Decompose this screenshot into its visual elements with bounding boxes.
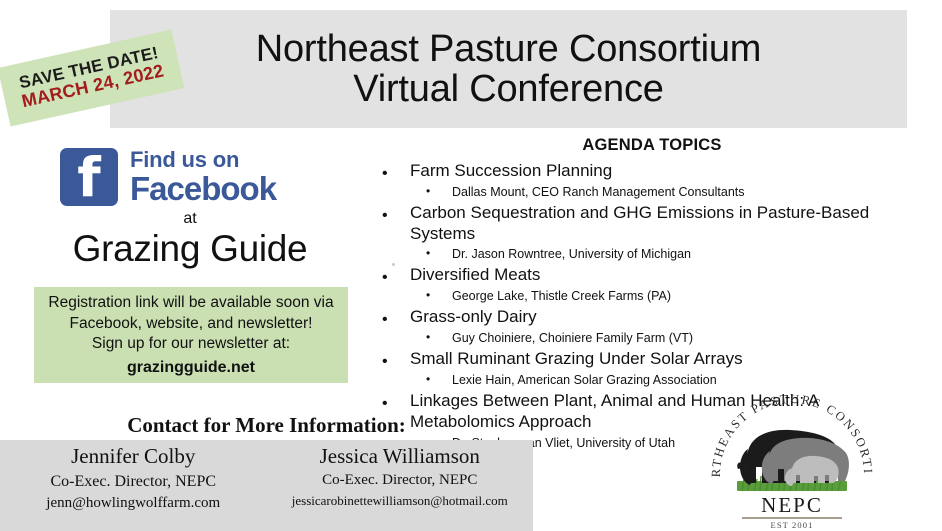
agenda-topic: Farm Succession Planning	[410, 161, 926, 182]
sub-bullet-icon: •	[426, 245, 430, 262]
registration-notice: Registration link will be available soon…	[34, 287, 348, 383]
title-line-2: Virtual Conference	[353, 70, 663, 110]
nepc-established: EST 2001	[771, 520, 814, 530]
poster-canvas: Northeast Pasture Consortium Virtual Con…	[0, 0, 942, 531]
agenda-heading: AGENDA TOPICS	[366, 136, 926, 155]
bullet-icon: •	[382, 164, 388, 183]
agenda-topic: Grass-only Dairy	[410, 307, 926, 328]
title-line-1: Northeast Pasture Consortium	[256, 30, 762, 70]
sub-bullet-icon: •	[426, 287, 430, 304]
agenda-item: • Farm Succession Planning • Dallas Moun…	[366, 161, 926, 201]
contact-name: Jessica Williamson	[320, 443, 480, 470]
stray-dot-artifact	[392, 263, 395, 266]
page-title: Northeast Pasture Consortium Virtual Con…	[110, 14, 907, 126]
sub-bullet-icon: •	[426, 371, 430, 388]
agenda-speaker: Lexie Hain, American Solar Grazing Assoc…	[452, 373, 717, 387]
bullet-icon: •	[382, 206, 388, 225]
contact-card: Jessica Williamson Co-Exec. Director, NE…	[267, 440, 534, 531]
agenda-speaker: Guy Choiniere, Choiniere Family Farm (VT…	[452, 331, 693, 345]
agenda-speaker: George Lake, Thistle Creek Farms (PA)	[452, 289, 671, 303]
at-connector-label: at	[60, 210, 320, 228]
sub-bullet-icon: •	[426, 183, 430, 200]
contact-heading: Contact for More Information:	[0, 413, 533, 438]
contact-card: Jennifer Colby Co-Exec. Director, NEPC j…	[0, 440, 267, 531]
bullet-icon: •	[382, 394, 388, 413]
registration-line-2: Facebook, website, and newsletter!	[70, 314, 313, 335]
bullet-icon: •	[382, 352, 388, 371]
agenda-topic: Small Ruminant Grazing Under Solar Array…	[410, 349, 926, 370]
facebook-brand-label: Facebook	[130, 172, 276, 205]
nepc-logo: NORTHEAST PASTURE CONSORTIUM	[700, 389, 885, 531]
facebook-callout: f Find us on Facebook	[60, 146, 320, 208]
agenda-speaker: Dallas Mount, CEO Ranch Management Consu…	[452, 185, 745, 199]
agenda-speaker: Dr. Jason Rowntree, University of Michig…	[452, 247, 691, 261]
agenda-topic: Diversified Meats	[410, 265, 926, 286]
bullet-icon: •	[382, 268, 388, 287]
bullet-icon: •	[382, 310, 388, 329]
registration-line-1: Registration link will be available soon…	[48, 293, 333, 314]
agenda-item: • Carbon Sequestration and GHG Emissions…	[366, 203, 926, 264]
registration-line-3: Sign up for our newsletter at:	[92, 334, 290, 355]
sub-bullet-icon: •	[426, 329, 430, 346]
agenda-item: • Small Ruminant Grazing Under Solar Arr…	[366, 349, 926, 389]
contact-role: Co-Exec. Director, NEPC	[322, 470, 477, 492]
contact-email[interactable]: jessicarobinettewilliamson@hotmail.com	[292, 492, 508, 511]
facebook-find-us-label: Find us on	[130, 149, 276, 171]
facebook-page-name: Grazing Guide	[30, 228, 350, 270]
contact-role: Co-Exec. Director, NEPC	[50, 470, 216, 493]
contact-info-panel: Jennifer Colby Co-Exec. Director, NEPC j…	[0, 440, 533, 531]
agenda-item: • Grass-only Dairy • Guy Choiniere, Choi…	[366, 307, 926, 347]
newsletter-website-link[interactable]: grazingguide.net	[127, 359, 255, 377]
contact-name: Jennifer Colby	[71, 443, 195, 470]
nepc-acronym: NEPC	[761, 493, 823, 517]
agenda-item: • Diversified Meats • George Lake, Thist…	[366, 265, 926, 305]
agenda-topic: Carbon Sequestration and GHG Emissions i…	[410, 203, 926, 244]
facebook-f-icon: f	[60, 148, 118, 206]
contact-email[interactable]: jenn@howlingwolffarm.com	[46, 493, 220, 515]
